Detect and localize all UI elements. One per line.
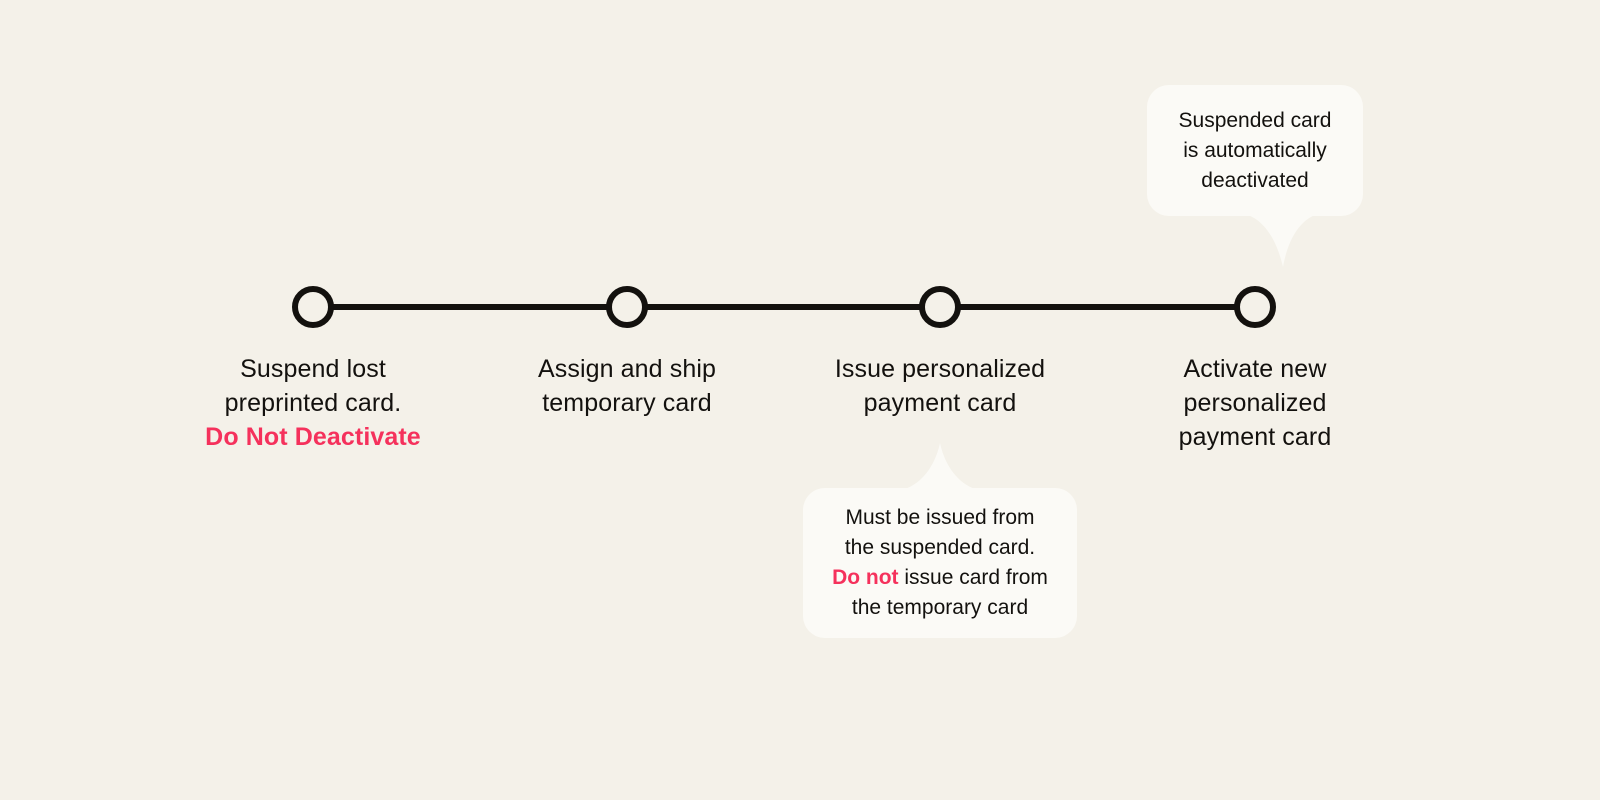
callout-issue-source-text: Must be issued from the suspended card. … xyxy=(818,503,1062,623)
timeline-step-label-1: Suspend lost preprinted card. Do Not Dea… xyxy=(163,352,463,454)
timeline-node-4[interactable] xyxy=(1237,289,1273,325)
callout-bottom-emphasis: Do not xyxy=(832,566,898,589)
callout-top-line-2: is automatically xyxy=(1183,139,1327,162)
callout-suspended-card-body: Suspended card is automatically deactiva… xyxy=(1147,85,1363,216)
step-2-line-2: temporary card xyxy=(542,389,712,417)
callout-issue-source: Must be issued from the suspended card. … xyxy=(803,488,1077,638)
callout-bottom-line-4: the temporary card xyxy=(852,596,1028,619)
callout-suspended-card-text: Suspended card is automatically deactiva… xyxy=(1165,106,1346,196)
step-3-line-1: Issue personalized xyxy=(835,355,1045,383)
step-3-line-2: payment card xyxy=(864,389,1017,417)
step-1-emphasis: Do Not Deactivate xyxy=(163,420,463,454)
callout-bottom-line-3-rest: issue card from xyxy=(899,566,1048,589)
step-4-line-3: payment card xyxy=(1179,423,1332,451)
timeline-node-1[interactable] xyxy=(295,289,331,325)
timeline-node-3[interactable] xyxy=(922,289,958,325)
callout-top-line-3: deactivated xyxy=(1201,169,1308,192)
callout-bottom-line-1: Must be issued from xyxy=(845,506,1034,529)
step-2-line-1: Assign and ship xyxy=(538,355,716,383)
timeline-step-label-4: Activate new personalized payment card xyxy=(1105,352,1405,454)
timeline-step-label-3: Issue personalized payment card xyxy=(790,352,1090,420)
diagram-canvas: Suspend lost preprinted card. Do Not Dea… xyxy=(0,0,1600,800)
callout-suspended-card: Suspended card is automatically deactiva… xyxy=(1147,85,1363,216)
callout-top-line-1: Suspended card xyxy=(1179,109,1332,132)
timeline-step-label-2: Assign and ship temporary card xyxy=(477,352,777,420)
callout-bottom-line-2: the suspended card. xyxy=(845,536,1035,559)
callout-issue-source-body: Must be issued from the suspended card. … xyxy=(803,488,1077,638)
step-4-line-2: personalized xyxy=(1184,389,1327,417)
step-1-line-2: preprinted card. xyxy=(225,389,402,417)
timeline-node-2[interactable] xyxy=(609,289,645,325)
step-4-line-1: Activate new xyxy=(1184,355,1327,383)
step-1-line-1: Suspend lost xyxy=(240,355,386,383)
